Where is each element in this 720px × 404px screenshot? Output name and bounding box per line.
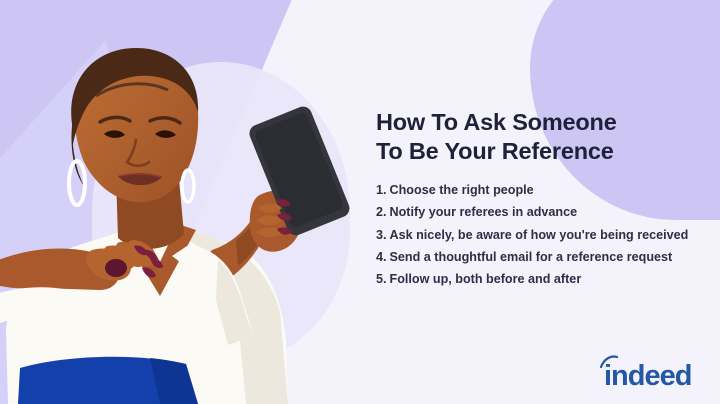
step-number: 2. [376,205,387,219]
ring [105,259,127,277]
step-text: Choose the right people [390,183,534,197]
indeed-logo[interactable]: indeed [598,354,702,392]
list-item: 1.Choose the right people [376,184,706,206]
step-number: 4. [376,250,387,264]
title-line-1: How To Ask Someone [376,109,617,135]
list-item: 3.Ask nicely, be aware of how you're bei… [376,229,706,251]
steps-list: 1.Choose the right people 2.Notify your … [376,184,706,295]
logo-wordmark: indeed [604,360,691,392]
list-item: 4.Send a thoughtful email for a referenc… [376,251,706,273]
text-content: How To Ask Someone To Be Your Reference … [376,108,706,295]
slide-canvas: How To Ask Someone To Be Your Reference … [0,0,720,404]
step-text: Ask nicely, be aware of how you're being… [390,228,689,242]
title-line-2: To Be Your Reference [376,138,614,164]
list-item: 2.Notify your referees in advance [376,206,706,228]
step-text: Notify your referees in advance [390,205,578,219]
page-title: How To Ask Someone To Be Your Reference [376,108,706,166]
step-text: Follow up, both before and after [390,272,582,286]
earring-right [182,170,194,202]
step-number: 3. [376,228,387,242]
step-text: Send a thoughtful email for a reference … [390,250,673,264]
illustration-woman-with-phone [0,0,380,404]
step-number: 1. [376,183,387,197]
list-item: 5.Follow up, both before and after [376,273,706,295]
step-number: 5. [376,272,387,286]
